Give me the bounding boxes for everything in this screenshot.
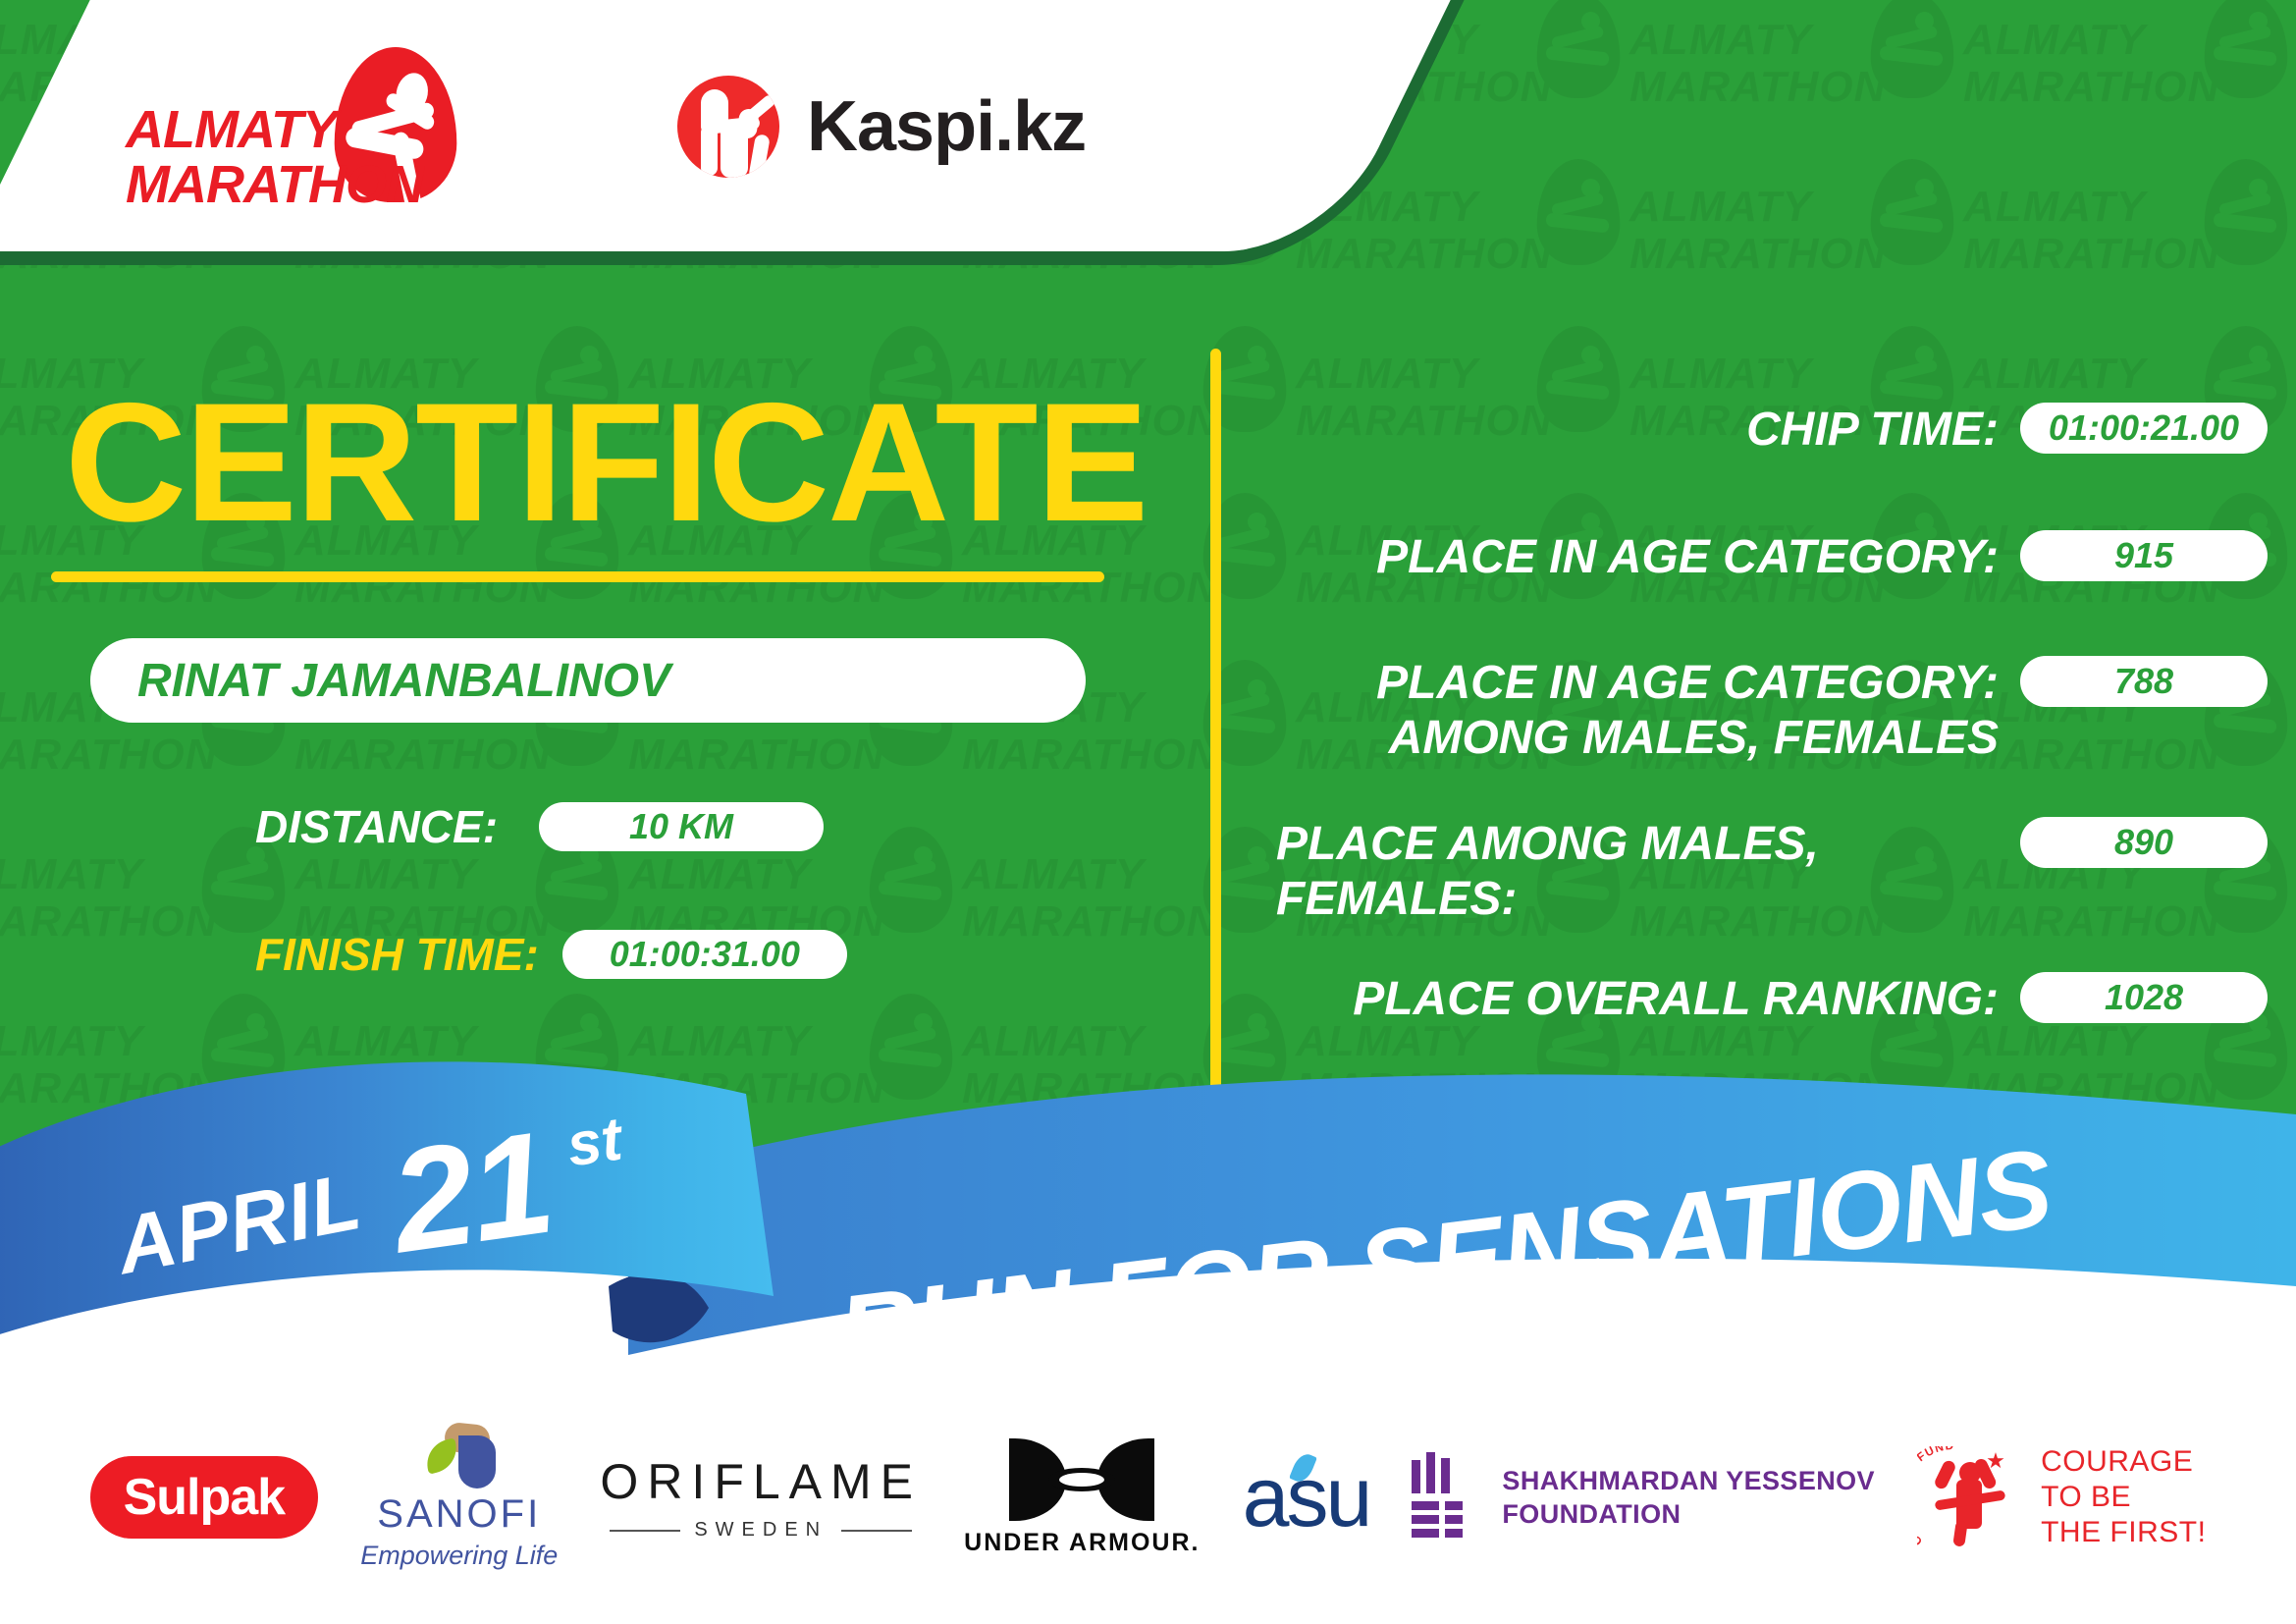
watermark-line-2: MARATHON bbox=[1629, 63, 1886, 112]
watermark-line-1: ALMATY bbox=[1629, 350, 1812, 399]
watermark-drop-icon bbox=[1871, 159, 1954, 265]
place-age-category-row: PLACE IN AGE CATEGORY: 915 bbox=[1276, 530, 2268, 585]
watermark-dot-icon bbox=[1248, 846, 1266, 865]
watermark-line-2: MARATHON bbox=[1629, 230, 1886, 279]
oriflame-sub: SWEDEN bbox=[610, 1519, 912, 1542]
watermark-dot-icon bbox=[1248, 513, 1266, 531]
participant-name-value: RINAT JAMANBALINOV bbox=[137, 654, 670, 708]
kaspi-family-icon bbox=[677, 76, 779, 178]
sanofi-tagline: Empowering Life bbox=[360, 1541, 558, 1571]
watermark-drop-icon bbox=[870, 827, 953, 933]
certificate-root: ALMATYMARATHONALMATYMARATHONALMATYMARATH… bbox=[0, 0, 2296, 1624]
distance-value: 10 KM bbox=[539, 802, 824, 851]
watermark-dot-icon bbox=[2249, 513, 2268, 531]
watermark-line-2: MARATHON bbox=[1963, 230, 2219, 279]
place-age-category-gender-row: PLACE IN AGE CATEGORY: AMONG MALES, FEMA… bbox=[1276, 656, 2268, 766]
header-bar: ALMATY MARATHON Kaspi.kz bbox=[0, 0, 1227, 251]
title-underline bbox=[51, 571, 1104, 582]
watermark-line-1: ALMATY bbox=[1629, 183, 1812, 232]
sponsor-yessenov: SHAKHMARDAN YESSENOV FOUNDATION bbox=[1412, 1452, 1875, 1543]
watermark-dot-icon bbox=[2249, 346, 2268, 364]
watermark-tile: ALMATYMARATHON bbox=[962, 825, 1296, 992]
watermark-drop-icon bbox=[2205, 159, 2288, 265]
watermark-dot-icon bbox=[2249, 12, 2268, 30]
watermark-dot-icon bbox=[246, 1013, 265, 1032]
watermark-dot-icon bbox=[1581, 179, 1600, 197]
kaspi-logo: Kaspi.kz bbox=[677, 73, 1086, 181]
yessenov-wordmark: SHAKHMARDAN YESSENOV FOUNDATION bbox=[1502, 1464, 1875, 1531]
yessenov-line-1: SHAKHMARDAN YESSENOV bbox=[1502, 1464, 1875, 1497]
sanofi-wordmark: SANOFI bbox=[377, 1492, 541, 1537]
oriflame-country: SWEDEN bbox=[694, 1519, 828, 1542]
watermark-tile: ALMATYMARATHON bbox=[1963, 0, 2296, 157]
watermark-tile: ALMATYMARATHON bbox=[1629, 0, 1963, 157]
sponsor-sulpak: Sulpak bbox=[90, 1456, 319, 1539]
finish-time-value: 01:00:31.00 bbox=[562, 930, 847, 979]
watermark-line-2: MARATHON bbox=[0, 731, 217, 780]
almaty-line: ALMATY bbox=[126, 102, 423, 157]
watermark-line-1: ALMATY bbox=[1629, 16, 1812, 65]
distance-label: DISTANCE: bbox=[255, 800, 498, 853]
watermark-line-2: MARATHON bbox=[962, 897, 1218, 947]
sulpak-logo: Sulpak bbox=[90, 1456, 319, 1539]
watermark-tile: ALMATYMARATHON bbox=[1629, 157, 1963, 324]
watermark-line-1: ALMATY bbox=[628, 1017, 811, 1066]
almaty-marathon-wordmark: ALMATY MARATHON bbox=[126, 102, 423, 212]
watermark-dot-icon bbox=[2249, 179, 2268, 197]
watermark-line-1: ALMATY bbox=[294, 1017, 477, 1066]
watermark-tile: ALMATYMARATHON bbox=[1963, 157, 2296, 324]
watermark-line-1: ALMATY bbox=[1963, 183, 2146, 232]
watermark-dot-icon bbox=[1915, 513, 1934, 531]
place-among-gender-row: PLACE AMONG MALES, FEMALES: 890 bbox=[1276, 817, 2268, 927]
page-title: CERTIFICATE bbox=[65, 378, 1147, 547]
watermark-dot-icon bbox=[1248, 679, 1266, 698]
under-armour-wordmark: UNDER ARMOUR. bbox=[964, 1529, 1200, 1557]
almaty-marathon-logo: ALMATY MARATHON bbox=[126, 59, 440, 196]
place-age-category-gender-label: PLACE IN AGE CATEGORY: AMONG MALES, FEMA… bbox=[1276, 656, 1999, 766]
event-ribbon: APRIL 21 st RUN FOR SENSATIONS bbox=[0, 1060, 2296, 1355]
distance-row: DISTANCE: 10 KM bbox=[255, 800, 824, 853]
label-line-2: AMONG MALES, FEMALES bbox=[1389, 712, 1999, 764]
courage-line-3: THE FIRST! bbox=[2041, 1515, 2206, 1550]
place-age-category-label: PLACE IN AGE CATEGORY: bbox=[1276, 530, 1999, 585]
watermark-line-1: ALMATY bbox=[0, 1017, 143, 1066]
watermark-dot-icon bbox=[246, 346, 265, 364]
watermark-line-1: ALMATY bbox=[1963, 16, 2146, 65]
watermark-dot-icon bbox=[914, 1013, 933, 1032]
sanofi-icon bbox=[423, 1424, 496, 1489]
label-line-1: PLACE IN AGE CATEGORY: bbox=[1376, 657, 1999, 709]
watermark-line-1: ALMATY bbox=[0, 850, 143, 899]
marathon-line: MARATHON bbox=[126, 157, 423, 212]
watermark-line-2: MARATHON bbox=[962, 731, 1218, 780]
place-among-gender-value: 890 bbox=[2020, 817, 2268, 868]
yessenov-line-2: FOUNDATION bbox=[1502, 1497, 1875, 1531]
yessenov-icon bbox=[1412, 1452, 1476, 1543]
watermark-drop-icon bbox=[1871, 0, 1954, 98]
sponsor-oriflame: ORIFLAME SWEDEN bbox=[600, 1453, 922, 1542]
place-age-category-value: 915 bbox=[2020, 530, 2268, 581]
watermark-dot-icon bbox=[580, 1013, 599, 1032]
watermark-dot-icon bbox=[1248, 346, 1266, 364]
watermark-line-2: MARATHON bbox=[628, 731, 884, 780]
participant-name-field: RINAT JAMANBALINOV bbox=[90, 638, 1086, 723]
divider-left bbox=[610, 1530, 680, 1532]
watermark-dot-icon bbox=[1915, 346, 1934, 364]
finish-time-row: FINISH TIME: 01:00:31.00 bbox=[255, 928, 847, 981]
courage-line-1: COURAGE bbox=[2041, 1444, 2206, 1480]
sponsor-strip: Sulpak SANOFI Empowering Life ORIFLAME S… bbox=[0, 1404, 2296, 1591]
place-overall-label: PLACE OVERALL RANKING: bbox=[1276, 972, 1999, 1027]
watermark-dot-icon bbox=[580, 346, 599, 364]
label-line-1: PLACE AMONG MALES, bbox=[1276, 818, 1819, 870]
kaspi-wordmark: Kaspi.kz bbox=[807, 86, 1086, 167]
chip-time-value: 01:00:21.00 bbox=[2020, 403, 2268, 454]
sponsor-courage: CORPORATE FUND ★ COURAGE TO BE THE FIRST… bbox=[1917, 1444, 2206, 1550]
watermark-line-1: ALMATY bbox=[1963, 350, 2146, 399]
watermark-line-1: ALMATY bbox=[962, 1017, 1145, 1066]
watermark-dot-icon bbox=[1581, 346, 1600, 364]
sponsor-sanofi: SANOFI Empowering Life bbox=[360, 1424, 558, 1571]
watermark-line-2: MARATHON bbox=[294, 731, 551, 780]
watermark-dot-icon bbox=[1248, 1013, 1266, 1032]
divider-right bbox=[841, 1530, 912, 1532]
finish-time-label: FINISH TIME: bbox=[255, 928, 539, 981]
label-line-2: FEMALES: bbox=[1276, 873, 1517, 925]
watermark-line-2: MARATHON bbox=[0, 897, 217, 947]
courage-line-2: TO BE bbox=[2041, 1480, 2206, 1515]
watermark-dot-icon bbox=[914, 846, 933, 865]
asu-wordmark: asu bbox=[1243, 1449, 1370, 1546]
watermark-drop-icon bbox=[2205, 0, 2288, 98]
ribbon-ordinal: st bbox=[562, 1105, 625, 1181]
watermark-line-1: ALMATY bbox=[962, 850, 1145, 899]
watermark-tile: ALMATYMARATHON bbox=[0, 825, 294, 992]
watermark-dot-icon bbox=[1915, 179, 1934, 197]
chip-time-row: CHIP TIME: 01:00:21.00 bbox=[1276, 403, 2268, 458]
place-overall-value: 1028 bbox=[2020, 972, 2268, 1023]
ribbon-day: 21 bbox=[382, 1100, 561, 1287]
place-overall-row: PLACE OVERALL RANKING: 1028 bbox=[1276, 972, 2268, 1027]
courage-wordmark: COURAGE TO BE THE FIRST! bbox=[2041, 1444, 2206, 1550]
watermark-dot-icon bbox=[1581, 513, 1600, 531]
column-divider bbox=[1210, 349, 1221, 1100]
watermark-dot-icon bbox=[1915, 12, 1934, 30]
place-age-category-gender-value: 788 bbox=[2020, 656, 2268, 707]
sponsor-under-armour: UNDER ARMOUR. bbox=[964, 1438, 1200, 1557]
watermark-dot-icon bbox=[914, 346, 933, 364]
watermark-line-1: ALMATY bbox=[628, 850, 811, 899]
watermark-drop-icon bbox=[1537, 159, 1621, 265]
watermark-dot-icon bbox=[1581, 12, 1600, 30]
watermark-drop-icon bbox=[1537, 0, 1621, 98]
chip-time-label: CHIP TIME: bbox=[1276, 403, 1999, 458]
oriflame-wordmark: ORIFLAME bbox=[600, 1453, 922, 1510]
watermark-line-1: ALMATY bbox=[1296, 350, 1478, 399]
watermark-line-2: MARATHON bbox=[1296, 230, 1552, 279]
under-armour-icon bbox=[1009, 1438, 1154, 1521]
watermark-line-2: MARATHON bbox=[1963, 63, 2219, 112]
courage-icon: CORPORATE FUND ★ bbox=[1917, 1446, 2023, 1548]
watermark-line-1: ALMATY bbox=[294, 850, 477, 899]
sponsor-asu: asu bbox=[1243, 1449, 1370, 1546]
place-among-gender-label: PLACE AMONG MALES, FEMALES: bbox=[1276, 817, 1999, 927]
